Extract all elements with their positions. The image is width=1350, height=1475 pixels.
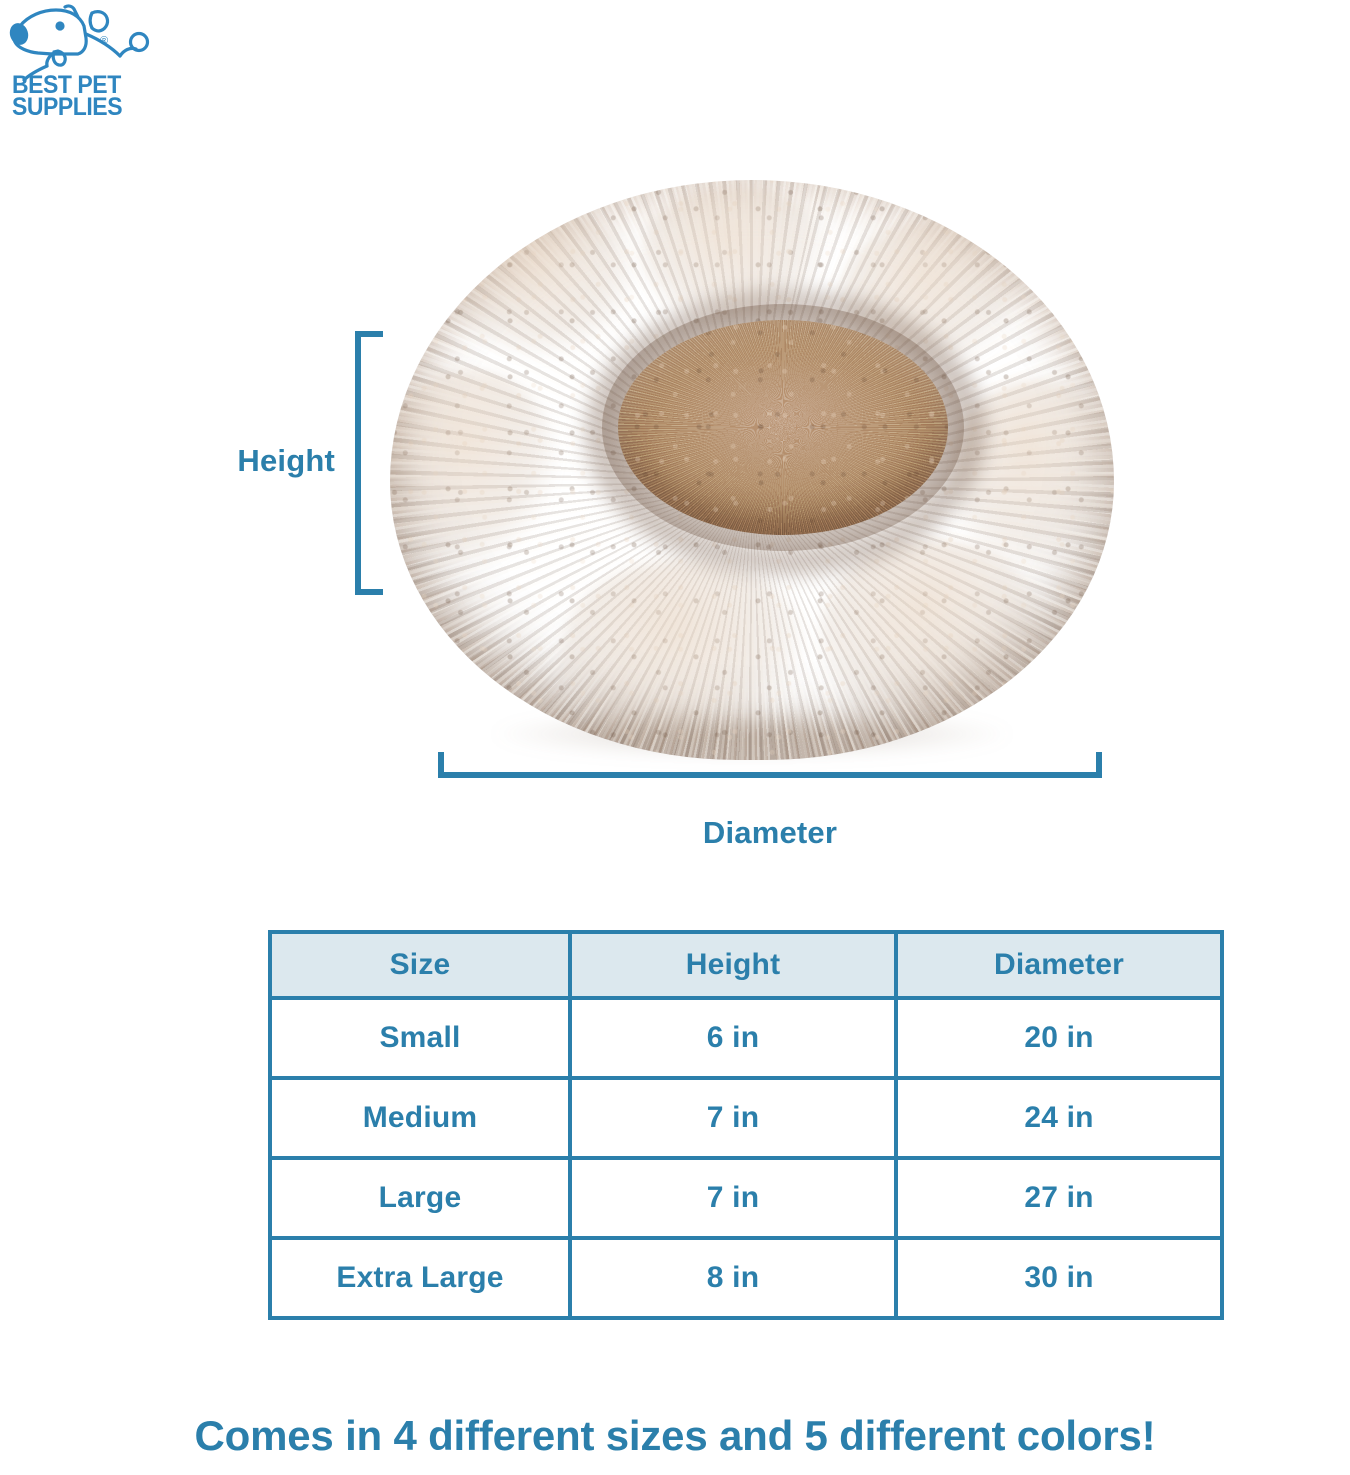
table-header-row: Size Height Diameter bbox=[270, 932, 1222, 998]
size-chart-table: Size Height Diameter Small 6 in 20 in Me… bbox=[268, 930, 1224, 1320]
cell-height: 7 in bbox=[570, 1078, 896, 1158]
infographic-page: ® BEST PET SUPPLIES Height bbox=[0, 0, 1350, 1475]
column-header-diameter: Diameter bbox=[896, 932, 1222, 998]
bolster-lobe bbox=[560, 560, 810, 750]
table-row: Small 6 in 20 in bbox=[270, 998, 1222, 1078]
cell-diameter: 27 in bbox=[896, 1158, 1222, 1238]
bolster-lobe bbox=[950, 380, 1114, 570]
diameter-label: Diameter bbox=[438, 815, 1102, 851]
footer-tagline: Comes in 4 different sizes and 5 differe… bbox=[0, 1412, 1350, 1460]
svg-text:®: ® bbox=[100, 35, 108, 47]
table-row: Medium 7 in 24 in bbox=[270, 1078, 1222, 1158]
cell-height: 6 in bbox=[570, 998, 896, 1078]
cell-height: 7 in bbox=[570, 1158, 896, 1238]
height-bracket-icon bbox=[355, 331, 383, 595]
diameter-bracket-icon bbox=[438, 752, 1102, 778]
table-row: Large 7 in 27 in bbox=[270, 1158, 1222, 1238]
bolster-lobe bbox=[820, 540, 1050, 730]
column-header-size: Size bbox=[270, 932, 570, 998]
cell-height: 8 in bbox=[570, 1238, 896, 1318]
table-row: Extra Large 8 in 30 in bbox=[270, 1238, 1222, 1318]
cell-size: Medium bbox=[270, 1078, 570, 1158]
brand-logo: ® BEST PET SUPPLIES bbox=[8, 4, 168, 132]
brand-wordmark: BEST PET SUPPLIES bbox=[12, 74, 158, 118]
cell-size: Large bbox=[270, 1158, 570, 1238]
cell-size: Extra Large bbox=[270, 1238, 570, 1318]
cell-diameter: 20 in bbox=[896, 998, 1222, 1078]
cell-diameter: 24 in bbox=[896, 1078, 1222, 1158]
height-label: Height bbox=[150, 443, 335, 479]
bed-outer-bolster bbox=[390, 180, 1114, 760]
bolster-lobe bbox=[450, 210, 640, 360]
cell-diameter: 30 in bbox=[896, 1238, 1222, 1318]
brand-name-line2: SUPPLIES bbox=[12, 96, 146, 118]
fur-noise-icon bbox=[618, 320, 948, 535]
bolster-lobe bbox=[640, 186, 830, 326]
cell-size: Small bbox=[270, 998, 570, 1078]
column-header-height: Height bbox=[570, 932, 896, 998]
product-image bbox=[382, 170, 1122, 770]
bed-inner-cushion bbox=[618, 320, 948, 535]
